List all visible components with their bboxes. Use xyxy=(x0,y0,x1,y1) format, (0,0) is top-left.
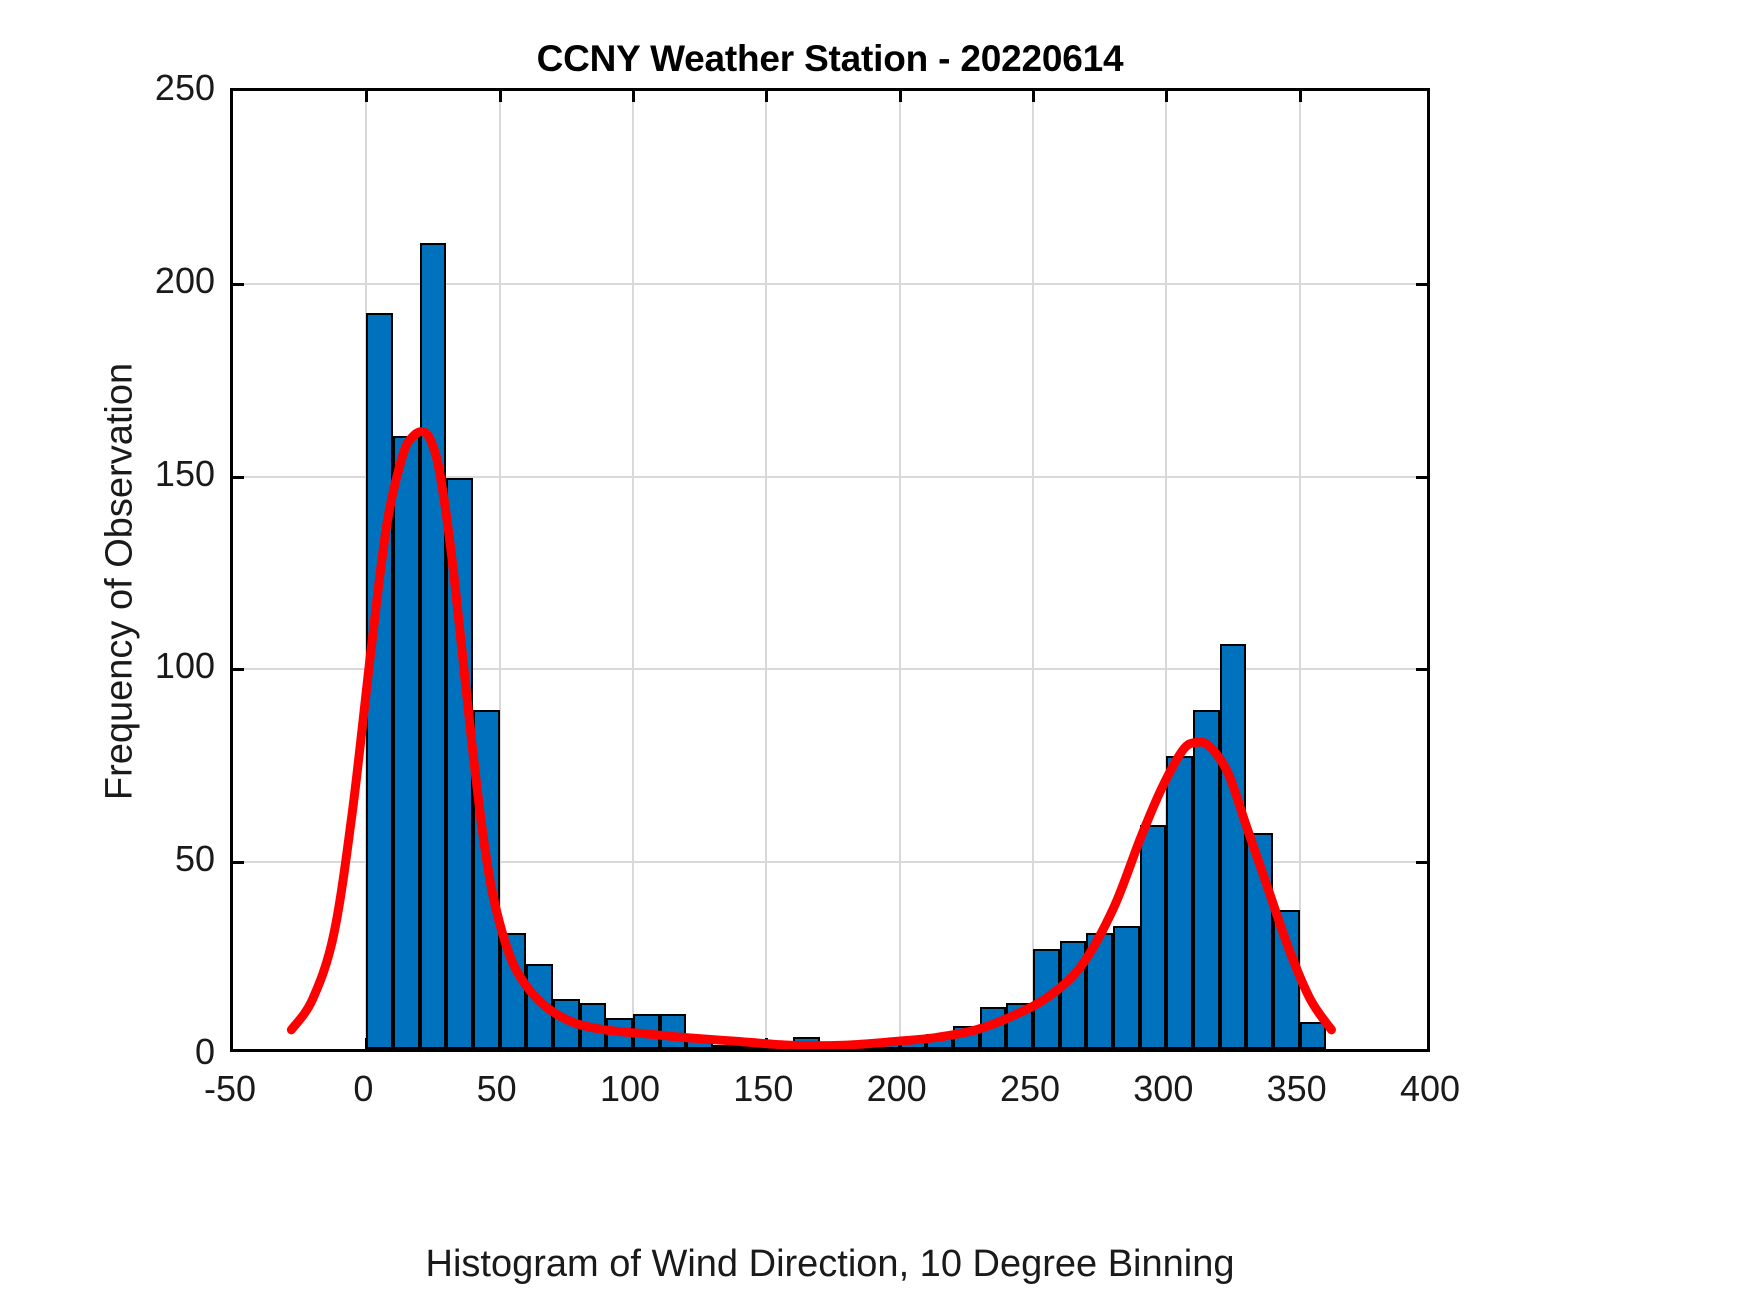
histogram-bar xyxy=(393,436,420,1049)
x-tick-mark-top xyxy=(1165,91,1168,102)
histogram-bar xyxy=(1113,926,1140,1049)
x-tick-mark-top xyxy=(1032,91,1035,102)
x-tick-label: 250 xyxy=(1000,1068,1060,1110)
histogram-bar xyxy=(553,999,580,1049)
histogram-bar xyxy=(500,933,527,1049)
y-tick-mark xyxy=(233,283,244,286)
histogram-bar xyxy=(1220,644,1247,1049)
x-tick-mark-top xyxy=(899,91,902,102)
x-tick-label: 50 xyxy=(477,1068,517,1110)
chart-title: CCNY Weather Station - 20220614 xyxy=(230,38,1430,80)
histogram-bar xyxy=(740,1045,767,1049)
histogram-bar xyxy=(446,478,473,1049)
y-tick-mark-right xyxy=(1416,861,1427,864)
plot-inner xyxy=(233,91,1427,1049)
histogram-bar xyxy=(526,964,553,1049)
x-tick-label: 0 xyxy=(353,1068,373,1110)
figure-canvas: CCNY Weather Station - 20220614 -5005010… xyxy=(0,0,1750,1313)
y-tick-label: 0 xyxy=(10,1031,215,1073)
histogram-bar xyxy=(633,1014,660,1049)
histogram-bar xyxy=(1273,910,1300,1049)
x-tick-label: -50 xyxy=(204,1068,256,1110)
x-tick-mark-top xyxy=(499,91,502,102)
histogram-bar xyxy=(926,1034,953,1049)
histogram-bar xyxy=(1086,933,1113,1049)
histogram-bar xyxy=(1033,949,1060,1049)
gridline-vertical xyxy=(765,91,767,1049)
gridline-vertical xyxy=(1032,91,1034,1049)
y-tick-mark-right xyxy=(1416,283,1427,286)
histogram-bar xyxy=(580,1003,607,1049)
histogram-bar xyxy=(420,243,447,1049)
x-tick-label: 200 xyxy=(867,1068,927,1110)
histogram-bar xyxy=(1060,941,1087,1049)
y-tick-mark xyxy=(233,861,244,864)
histogram-bar xyxy=(900,1041,927,1049)
x-tick-label: 400 xyxy=(1400,1068,1460,1110)
histogram-bar xyxy=(1006,1003,1033,1049)
histogram-bar xyxy=(980,1007,1007,1049)
histogram-bar xyxy=(1300,1022,1327,1049)
gridline-vertical xyxy=(632,91,634,1049)
histogram-bar xyxy=(606,1018,633,1049)
histogram-bar xyxy=(473,710,500,1049)
x-tick-mark-top xyxy=(1299,91,1302,102)
histogram-bar xyxy=(820,1045,847,1049)
x-tick-label: 100 xyxy=(600,1068,660,1110)
gridline-vertical xyxy=(899,91,901,1049)
histogram-bar xyxy=(873,1041,900,1049)
gridline-horizontal xyxy=(233,283,1427,285)
histogram-bar xyxy=(366,313,393,1049)
y-tick-mark-right xyxy=(1416,476,1427,479)
x-tick-label: 300 xyxy=(1133,1068,1193,1110)
x-tick-mark-top xyxy=(365,91,368,102)
histogram-bar xyxy=(1246,833,1273,1049)
histogram-bar xyxy=(766,1045,793,1049)
x-tick-label: 350 xyxy=(1267,1068,1327,1110)
y-tick-mark-right xyxy=(1416,668,1427,671)
histogram-bar xyxy=(1193,710,1220,1049)
gridline-vertical xyxy=(1299,91,1301,1049)
histogram-bar xyxy=(713,1045,740,1049)
histogram-bar xyxy=(660,1014,687,1049)
y-tick-mark xyxy=(233,668,244,671)
y-axis-label: Frequency of Observation xyxy=(99,232,142,932)
x-tick-mark-top xyxy=(765,91,768,102)
y-tick-mark xyxy=(233,476,244,479)
histogram-bar xyxy=(846,1045,873,1049)
histogram-bar xyxy=(1166,756,1193,1049)
x-tick-label: 150 xyxy=(733,1068,793,1110)
x-tick-mark-top xyxy=(632,91,635,102)
histogram-bar xyxy=(1140,825,1167,1049)
y-tick-label: 250 xyxy=(10,67,215,109)
histogram-bar xyxy=(793,1037,820,1049)
plot-area xyxy=(230,88,1430,1052)
histogram-bar xyxy=(953,1026,980,1049)
x-axis-label: Histogram of Wind Direction, 10 Degree B… xyxy=(230,1243,1430,1286)
histogram-bar xyxy=(686,1037,713,1049)
